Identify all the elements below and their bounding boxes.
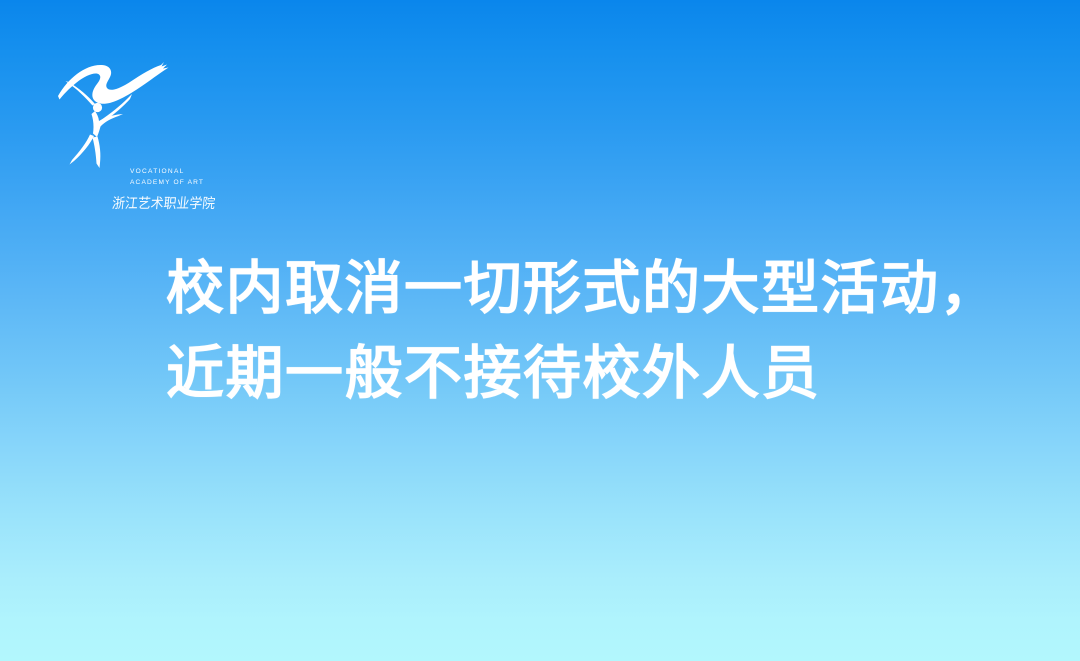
dancer-ribbon-emblem-icon (52, 48, 182, 173)
school-logo: VOCATIONAL ACADEMY OF ART 浙江艺术职业学院 (52, 48, 182, 173)
headline-line-2: 近期一般不接待校外人员 (166, 331, 966, 416)
headline-line-1: 校内取消一切形式的大型活动， (166, 246, 966, 331)
logo-english-line2: ACADEMY OF ART (130, 178, 222, 189)
logo-english-line1: VOCATIONAL (130, 167, 222, 178)
logo-english-text: VOCATIONAL ACADEMY OF ART (130, 167, 222, 188)
headline: 校内取消一切形式的大型活动， 近期一般不接待校外人员 (166, 246, 966, 416)
logo-chinese-name: 浙江艺术职业学院 (111, 193, 216, 215)
poster-canvas: VOCATIONAL ACADEMY OF ART 浙江艺术职业学院 校内取消一… (0, 0, 1080, 661)
